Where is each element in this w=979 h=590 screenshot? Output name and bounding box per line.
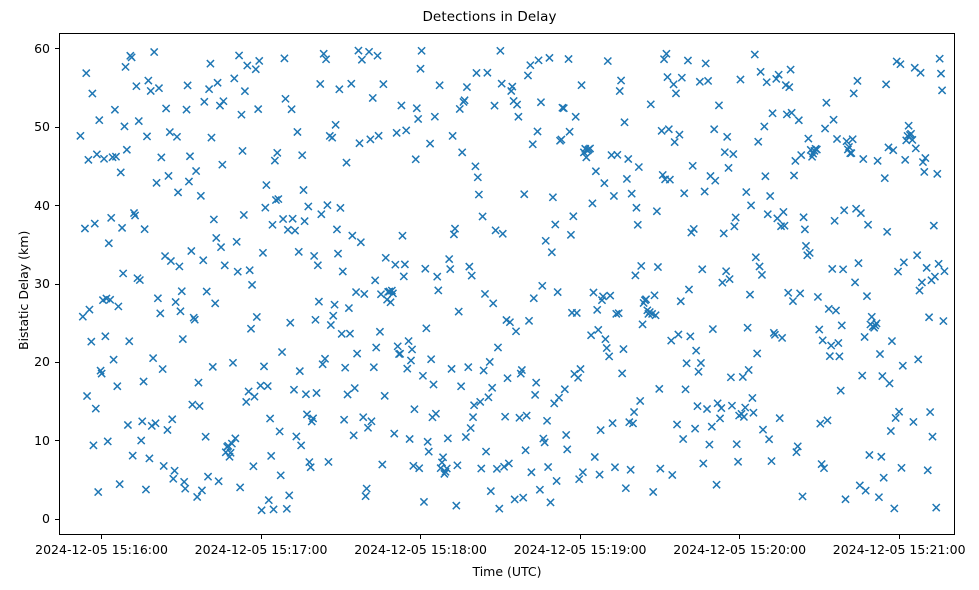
y-tick-mark	[55, 284, 59, 285]
x-tick-mark	[899, 535, 900, 539]
y-axis-label: Bistatic Delay (km)	[16, 231, 31, 350]
x-tick-label-group: 2024-12-05 15:16:002024-12-05 15:17:0020…	[0, 0, 979, 590]
y-tick-mark	[55, 362, 59, 363]
x-tick-label: 2024-12-05 15:16:00	[35, 542, 168, 557]
x-tick-mark	[261, 535, 262, 539]
x-tick-mark	[420, 535, 421, 539]
x-tick-label: 2024-12-05 15:20:00	[673, 542, 806, 557]
matplotlib-figure: Detections in Delay 0102030405060 2024-1…	[0, 0, 979, 590]
y-tick-mark	[55, 440, 59, 441]
x-axis-label: Time (UTC)	[59, 564, 955, 579]
y-tick-mark	[55, 519, 59, 520]
x-tick-mark	[101, 535, 102, 539]
x-tick-label: 2024-12-05 15:18:00	[354, 542, 487, 557]
y-tick-mark	[55, 48, 59, 49]
y-tick-mark	[55, 127, 59, 128]
x-tick-mark	[580, 535, 581, 539]
x-tick-label: 2024-12-05 15:19:00	[514, 542, 647, 557]
x-tick-mark	[739, 535, 740, 539]
x-tick-label: 2024-12-05 15:17:00	[195, 542, 328, 557]
y-tick-mark	[55, 205, 59, 206]
x-tick-label: 2024-12-05 15:21:00	[833, 542, 966, 557]
